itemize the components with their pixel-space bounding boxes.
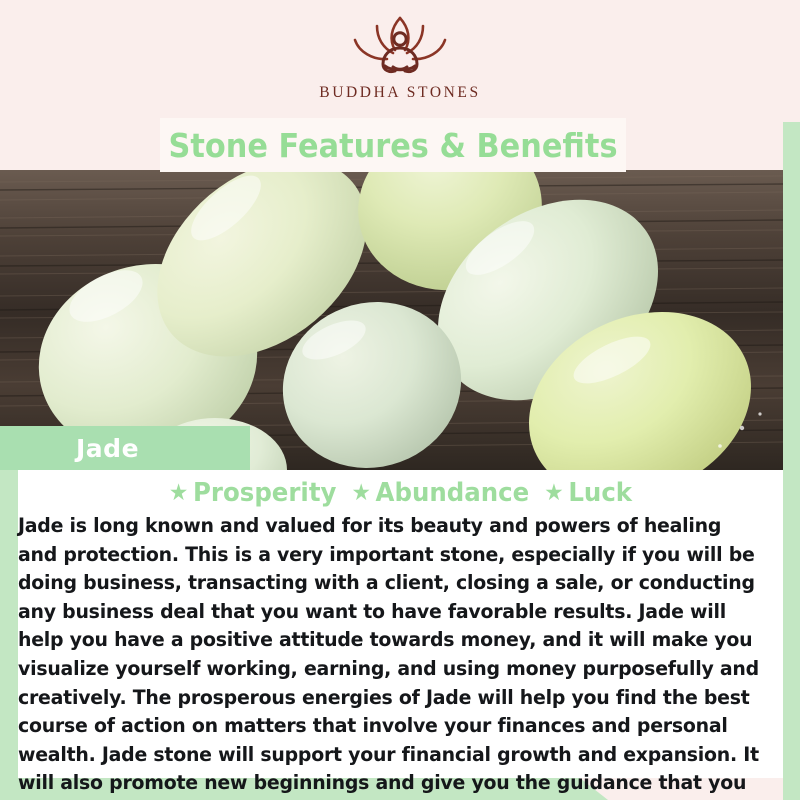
star-icon: ★ [169, 480, 188, 506]
brand-name: BUDDHA STONES [319, 84, 480, 102]
title-banner: Stone Features & Benefits [160, 118, 626, 172]
benefits-list: ★Prosperity★Abundance★Luck [41, 478, 760, 508]
benefit-label-luck: Luck [568, 478, 632, 508]
stone-name-bar: Jade [0, 426, 250, 470]
stone-photo [0, 170, 783, 470]
stone-photo-illustration [0, 170, 783, 470]
card-header: BUDDHA STONES [0, 0, 800, 122]
star-icon: ★ [351, 480, 370, 506]
benefit-label-abundance: Abundance [376, 478, 530, 508]
stone-info-card: BUDDHA STONES Stone Features & Benefits … [0, 0, 800, 800]
lotus-meditation-icon [325, 8, 475, 80]
stone-description: Jade is long known and valued for its be… [18, 512, 759, 800]
stone-name: Jade [76, 434, 139, 463]
benefit-label-prosperity: Prosperity [193, 478, 336, 508]
content-panel: ★Prosperity★Abundance★Luck Jade is long … [18, 470, 783, 778]
star-icon: ★ [544, 480, 563, 506]
page-title: Stone Features & Benefits [169, 126, 618, 165]
